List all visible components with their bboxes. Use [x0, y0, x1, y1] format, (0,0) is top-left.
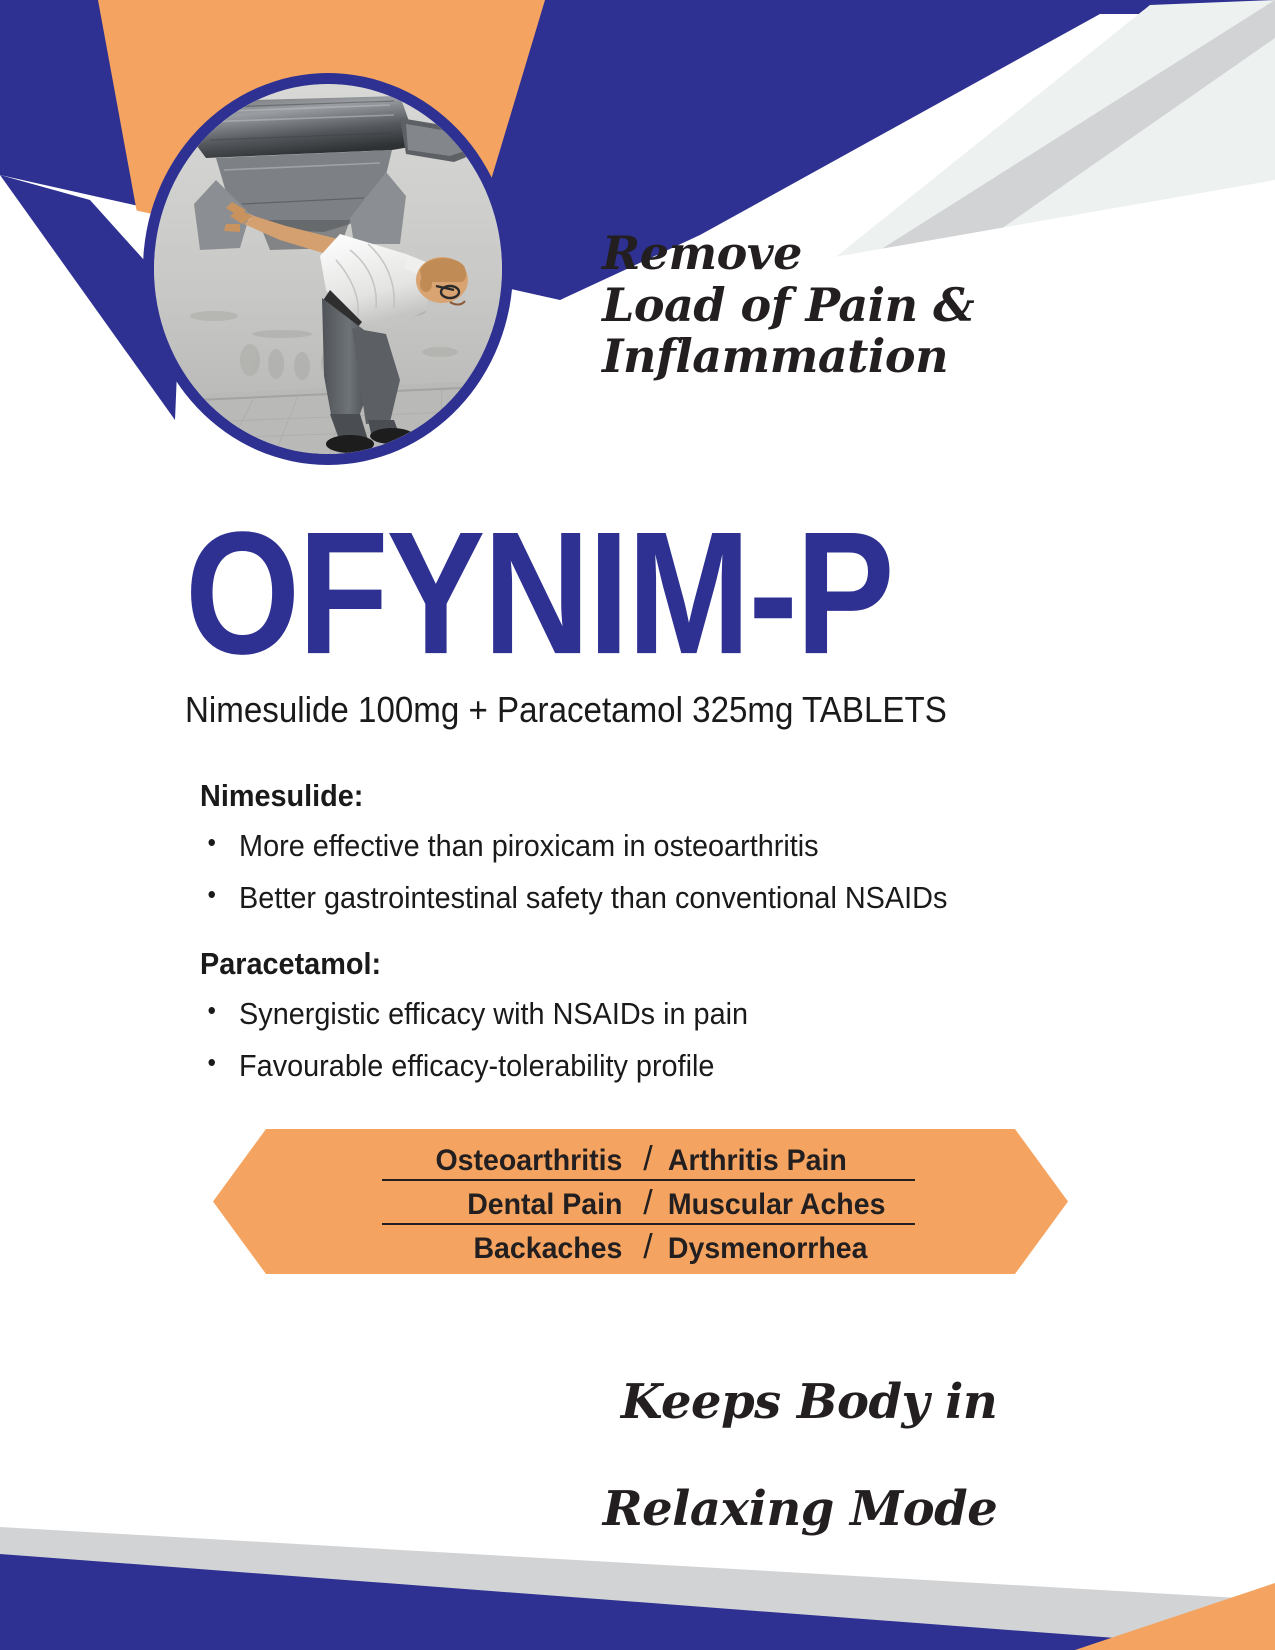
- indication-left: Osteoarthritis: [387, 1139, 630, 1183]
- hero-photo-circle: [143, 73, 513, 465]
- indication-separator: /: [630, 1225, 666, 1269]
- list-item: Favourable efficacy-tolerability profile: [200, 1048, 1018, 1084]
- list-item: Synergistic efficacy with NSAIDs in pain: [200, 996, 1018, 1032]
- indication-separator: /: [630, 1137, 666, 1181]
- indication-row: Backaches / Dysmenorrhea: [374, 1225, 907, 1269]
- molecule-heading-paracetamol: Paracetamol:: [200, 946, 1018, 982]
- indication-left: Backaches: [387, 1227, 630, 1271]
- indication-right: Dysmenorrhea: [666, 1227, 895, 1271]
- indication-separator: /: [630, 1181, 666, 1225]
- brand-composition: Nimesulide 100mg + Paracetamol 325mg TAB…: [185, 689, 1013, 731]
- bullet-list-nimesulide: More effective than piroxicam in osteoar…: [200, 828, 1080, 916]
- list-item: Better gastrointestinal safety than conv…: [200, 880, 1018, 916]
- poster-canvas: Remove Load of Pain & Inflammation OFYNI…: [0, 0, 1275, 1650]
- molecule-content: Nimesulide: More effective than piroxica…: [200, 778, 1080, 1100]
- man-with-anvil-illustration: [154, 84, 502, 454]
- tagline-line-1: Keeps Body in: [621, 1374, 997, 1430]
- hero-photo: [154, 84, 502, 454]
- brand-block: OFYNIM-P Nimesulide 100mg + Paracetamol …: [185, 508, 1085, 731]
- indications-rows: Osteoarthritis / Arthritis Pain Dental P…: [213, 1129, 1068, 1274]
- tagline-line-2: Relaxing Mode: [556, 1483, 997, 1537]
- indication-right: Arthritis Pain: [666, 1139, 895, 1183]
- bullet-list-paracetamol: Synergistic efficacy with NSAIDs in pain…: [200, 996, 1080, 1084]
- indication-row: Osteoarthritis / Arthritis Pain: [374, 1137, 907, 1181]
- indication-left: Dental Pain: [387, 1183, 630, 1227]
- indication-right: Muscular Aches: [666, 1183, 895, 1227]
- brand-name: OFYNIM-P: [185, 508, 1085, 679]
- list-item: More effective than piroxicam in osteoar…: [200, 828, 1018, 864]
- tagline: Keeps Body in Relaxing Mode: [556, 1322, 997, 1645]
- molecule-heading-nimesulide: Nimesulide:: [200, 778, 1018, 814]
- indications-banner: Osteoarthritis / Arthritis Pain Dental P…: [213, 1129, 1068, 1274]
- headline: Remove Load of Pain & Inflammation: [602, 228, 974, 383]
- indication-row: Dental Pain / Muscular Aches: [374, 1181, 907, 1225]
